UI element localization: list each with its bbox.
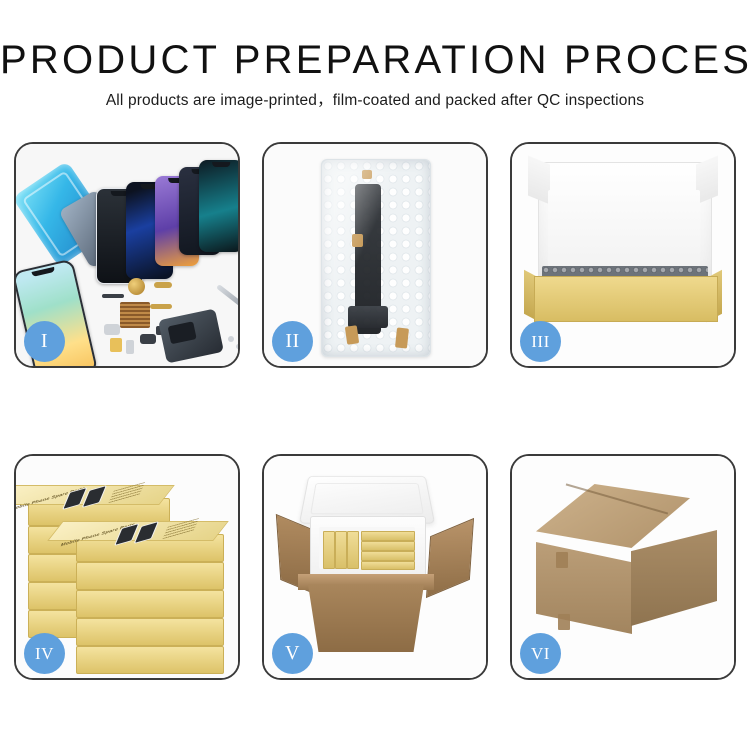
packed-box [323, 531, 335, 569]
process-step-panel-4: Mobile Phone Spare Parts [14, 454, 240, 680]
carton-tape-upper [556, 552, 568, 568]
page-title: PRODUCT PREPARATION PROCESS [0, 38, 750, 82]
process-step-grid: I II [14, 142, 736, 680]
step-badge-6: VI [520, 633, 561, 674]
process-step-panel-3: III [510, 142, 736, 368]
flex-cable-gold-2 [150, 304, 172, 309]
phone-screen-teal [199, 160, 238, 252]
step-badge-5: V [272, 633, 313, 674]
process-step-panel-1: I [14, 142, 240, 368]
flex-cable-gold [154, 282, 172, 288]
process-step-panel-6: VI [510, 454, 736, 680]
packed-box [335, 531, 347, 569]
carton-tape-lower [558, 614, 570, 630]
step-badge-1: I [24, 321, 65, 362]
speaker-module-icon [128, 278, 145, 295]
kraft-tray-front [534, 276, 718, 322]
retail-box [76, 562, 224, 590]
retail-box [76, 646, 224, 674]
step-badge-4: IV [24, 633, 65, 674]
part-strip [102, 294, 124, 298]
tweezers-icon [216, 284, 238, 309]
retail-box [76, 590, 224, 618]
repair-parts-cluster [102, 276, 238, 364]
retail-box [76, 618, 224, 646]
process-step-panel-2: II [262, 142, 488, 368]
process-step-panel-5: V [262, 454, 488, 680]
box-print-specs [162, 518, 199, 540]
retail-box-top-front: Mobile Phone Spare Parts [76, 534, 224, 562]
infographic-page: PRODUCT PREPARATION PROCESS All products… [0, 0, 750, 750]
header: PRODUCT PREPARATION PROCESS All products… [0, 38, 750, 111]
retail-box-lid: Mobile Phone Spare Parts [16, 485, 175, 505]
screw-1 [228, 336, 234, 342]
packed-box [361, 551, 415, 561]
packed-box [361, 561, 415, 570]
step-badge-2: II [272, 321, 313, 362]
part-sim-tray [126, 340, 134, 354]
packed-box [347, 531, 359, 569]
retail-box-lid: Mobile Phone Spare Parts [47, 521, 229, 541]
packed-box [361, 541, 415, 551]
foam-liner [548, 190, 700, 276]
phone-chassis-icon [158, 308, 224, 363]
part-bracket [110, 338, 122, 352]
step-badge-3: III [520, 321, 561, 362]
inner-box-flap-left [528, 156, 550, 205]
page-subtitle: All products are image-printed，film-coat… [0, 91, 750, 111]
bubble-wrap-bag-icon [321, 159, 431, 357]
screw-2 [236, 344, 238, 349]
carton-front-face [300, 584, 432, 652]
box-print-specs [108, 482, 145, 504]
part-connector [104, 324, 120, 335]
packed-box [361, 531, 415, 541]
copper-plate-icon [120, 302, 150, 328]
part-camera [140, 334, 156, 344]
